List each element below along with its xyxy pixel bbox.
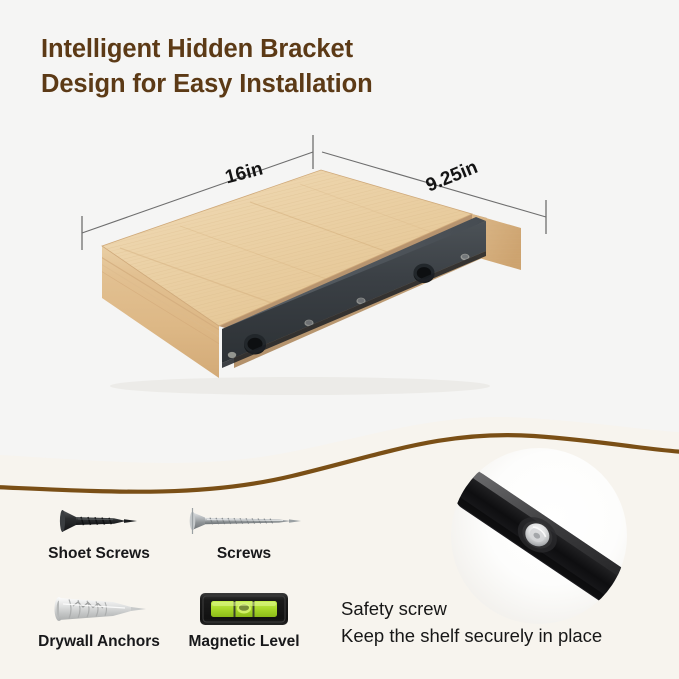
page-title: Intelligent Hidden Bracket Design for Ea… [41, 32, 641, 102]
accessory-item-drywall-anchors: Drywall Anchors [24, 588, 174, 651]
safety-subtitle: Keep the shelf securely in place [341, 623, 602, 650]
accessory-label: Drywall Anchors [24, 633, 174, 651]
accessory-item-shoet-screws: Shoet Screws [24, 500, 174, 563]
drywall-anchor-icon [24, 588, 174, 630]
shelf-illustration [0, 130, 679, 420]
title-line-1: Intelligent Hidden Bracket [41, 32, 641, 67]
title-line-2: Design for Easy Installation [41, 67, 641, 102]
accessory-label: Shoet Screws [24, 545, 174, 563]
screw-icon [169, 500, 319, 542]
accessory-label: Magnetic Level [169, 633, 319, 651]
magnetic-level-icon [169, 588, 319, 630]
shoet-screw-icon [24, 500, 174, 542]
accessory-item-magnetic-level: Magnetic Level [169, 588, 319, 651]
accessory-item-screws: Screws [169, 500, 319, 563]
infographic-poster: Intelligent Hidden Bracket Design for Ea… [0, 0, 679, 679]
accessory-grid: Shoet Screws [24, 500, 324, 660]
shelf-body [96, 170, 521, 378]
safety-title: Safety screw [341, 596, 602, 623]
accessory-label: Screws [169, 545, 319, 563]
safety-screw-caption: Safety screw Keep the shelf securely in … [341, 596, 602, 650]
